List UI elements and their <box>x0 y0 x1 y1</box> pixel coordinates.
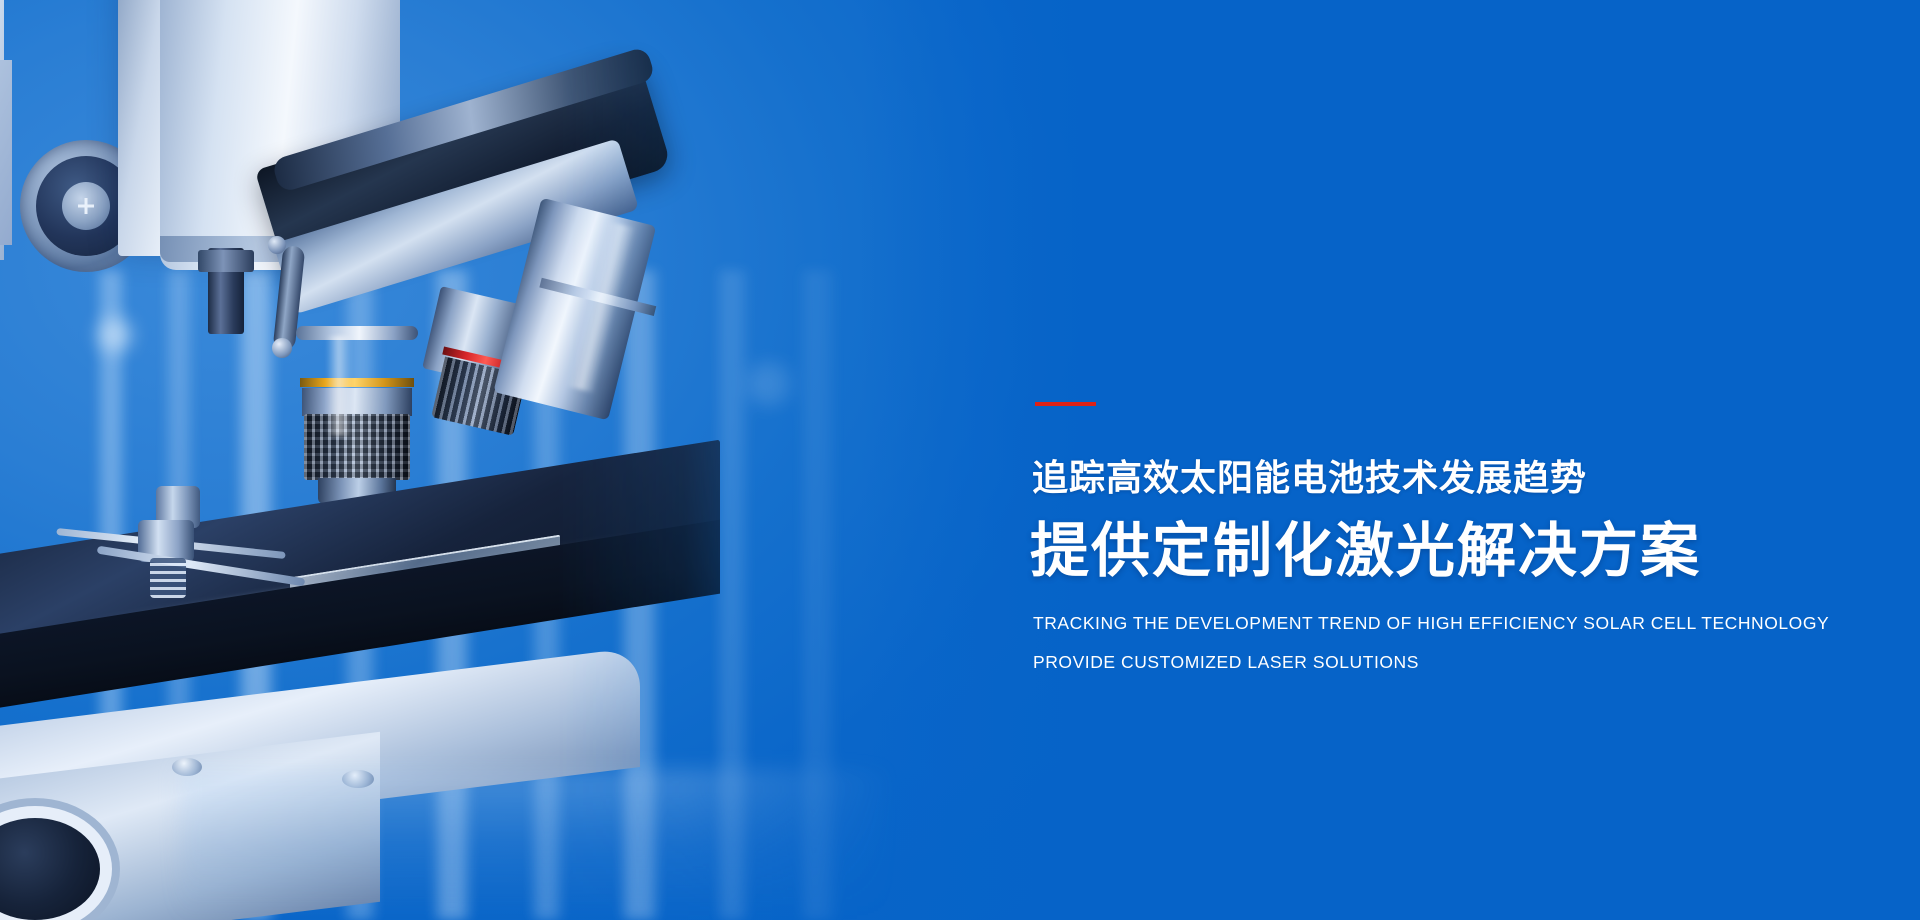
objective-lens-front-midsection <box>302 388 412 416</box>
light-glow-3 <box>748 362 792 406</box>
objective-lens-front-yellow-band <box>300 378 414 387</box>
turret-bolt-head-top <box>268 236 286 254</box>
microscope-photo <box>0 0 900 920</box>
hero-english-line-2: PROVIDE CUSTOMIZED LASER SOLUTIONS <box>1033 652 1419 673</box>
focus-knob-plate <box>0 60 12 245</box>
hero-content: 追踪高效太阳能电池技术发展趋势 提供定制化激光解决方案 TRACKING THE… <box>1032 0 1872 920</box>
turret-bolt-head-bottom <box>272 338 292 358</box>
light-glow-1 <box>98 318 132 352</box>
table-reflection <box>180 770 900 920</box>
condenser-stem-cap <box>198 250 254 272</box>
objective-lens-front-knurled-grip <box>304 414 410 480</box>
hero-banner: 追踪高效太阳能电池技术发展趋势 提供定制化激光解决方案 TRACKING THE… <box>0 0 1920 920</box>
hero-headline: 提供定制化激光解决方案 <box>1030 518 1701 584</box>
hero-english-line-1: TRACKING THE DEVELOPMENT TREND OF HIGH E… <box>1033 613 1829 634</box>
slide-clip-spring <box>150 558 186 598</box>
phillips-screw-icon <box>78 198 94 214</box>
hero-subheadline: 追踪高效太阳能电池技术发展趋势 <box>1032 457 1587 498</box>
objective-lens-front-highlight <box>326 336 352 436</box>
accent-rule <box>1035 402 1096 406</box>
objective-lens-front-collar <box>296 326 418 340</box>
